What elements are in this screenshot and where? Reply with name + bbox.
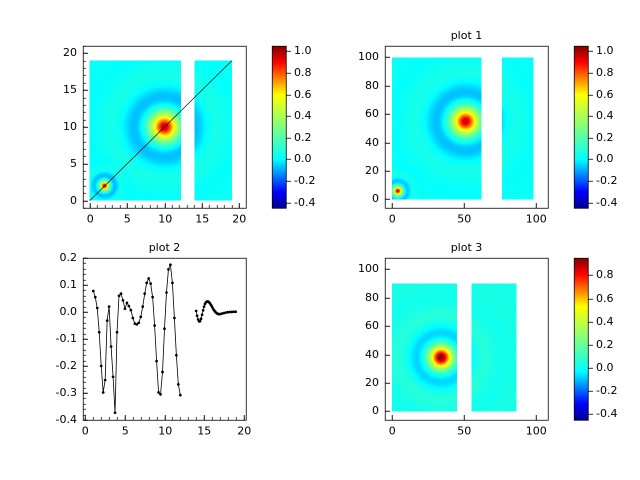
matplotlib-figure[interactable] <box>0 0 640 480</box>
figure-canvas-container: plot 1 plot 2 plot 3 <box>0 0 640 480</box>
